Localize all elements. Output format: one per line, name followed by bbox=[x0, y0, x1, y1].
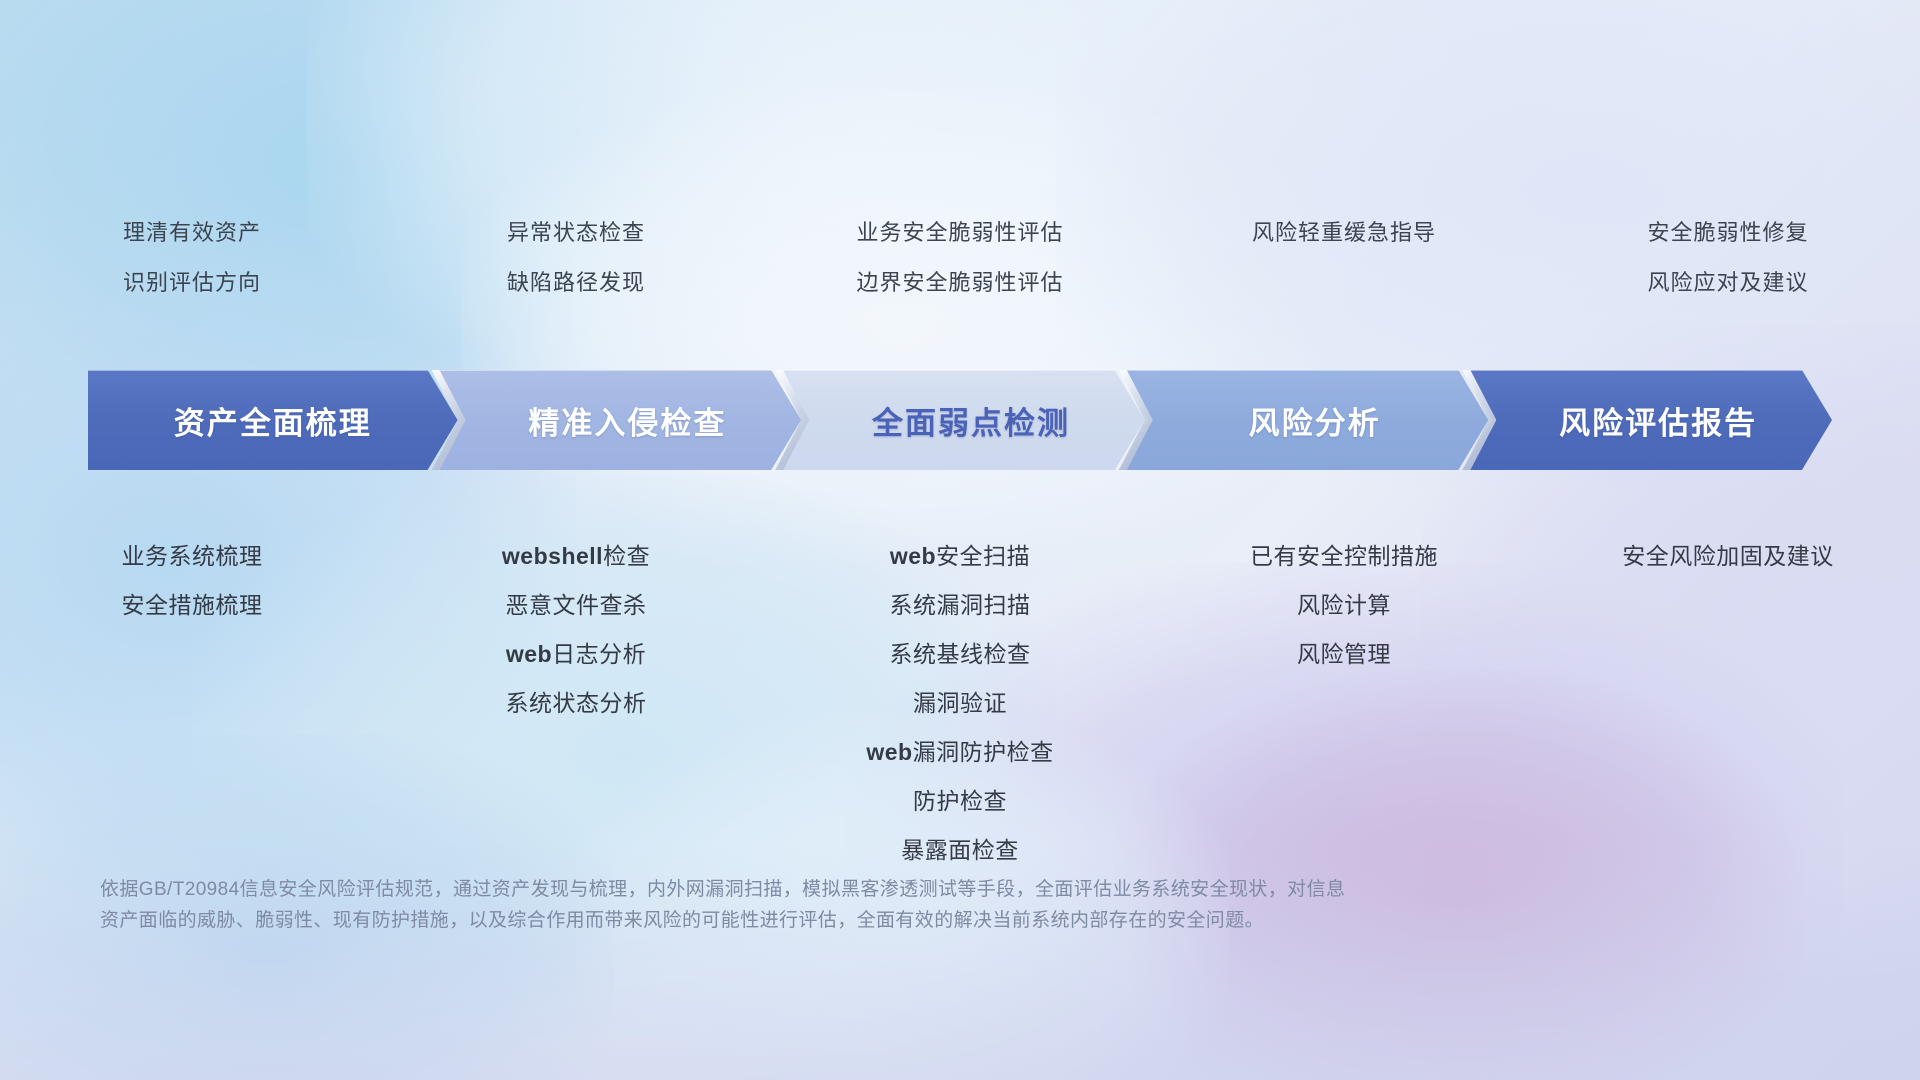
footer-line-1: 依据GB/T20984信息安全风险评估规范，通过资产发现与梳理，内外网漏洞扫描，… bbox=[100, 875, 1820, 906]
stage-arrow-4[interactable]: 风险分析 bbox=[1119, 370, 1489, 470]
list-item-prefix: web bbox=[890, 543, 936, 569]
top-caption: 边界安全脆弱性评估 bbox=[856, 272, 1063, 294]
top-caption: 异常状态检查 bbox=[507, 222, 645, 244]
top-caption: 业务安全脆弱性评估 bbox=[856, 222, 1063, 244]
stage-label: 资产全面梳理 bbox=[174, 398, 372, 443]
top-caption-col-5: 安全脆弱性修复风险应对及建议 bbox=[1536, 222, 1920, 322]
list-item-label: 日志分析 bbox=[552, 641, 646, 667]
stage-arrow-1[interactable]: 资产全面梳理 bbox=[88, 370, 458, 470]
detail-list-col-3: web安全扫描系统漏洞扫描系统基线检查漏洞验证web漏洞防护检查防护检查暴露面检… bbox=[768, 545, 1152, 888]
top-caption: 识别评估方向 bbox=[123, 272, 261, 294]
detail-list-col-4: 已有安全控制措施风险计算风险管理 bbox=[1152, 545, 1536, 692]
list-item: 防护检查 bbox=[913, 790, 1007, 813]
top-caption: 安全脆弱性修复 bbox=[1647, 222, 1808, 244]
list-item-prefix: web bbox=[866, 739, 912, 765]
list-item: 风险管理 bbox=[1297, 643, 1391, 666]
top-caption-col-1: 理清有效资产识别评估方向 bbox=[0, 222, 384, 322]
stage-label: 全面弱点检测 bbox=[850, 398, 1070, 443]
list-item: 业务系统梳理 bbox=[122, 545, 263, 568]
list-item-label: 检查 bbox=[603, 543, 650, 569]
list-item-label: 漏洞防护检查 bbox=[913, 739, 1054, 765]
top-caption-col-2: 异常状态检查缺陷路径发现 bbox=[384, 222, 768, 322]
top-caption: 风险应对及建议 bbox=[1647, 272, 1808, 294]
detail-list-col-1: 业务系统梳理安全措施梳理 bbox=[0, 545, 384, 643]
stage-arrow-3[interactable]: 全面弱点检测 bbox=[775, 370, 1145, 470]
list-item: web漏洞防护检查 bbox=[866, 741, 1053, 764]
top-caption-col-3: 业务安全脆弱性评估边界安全脆弱性评估 bbox=[768, 222, 1152, 322]
list-item-prefix: webshell bbox=[502, 543, 603, 569]
list-item: 系统漏洞扫描 bbox=[890, 594, 1031, 617]
stage-arrow-5[interactable]: 风险评估报告 bbox=[1462, 370, 1832, 470]
list-item: 风险计算 bbox=[1297, 594, 1391, 617]
stage-label: 风险分析 bbox=[1227, 398, 1381, 443]
top-caption: 缺陷路径发现 bbox=[507, 272, 645, 294]
list-item: 漏洞验证 bbox=[913, 692, 1007, 715]
list-item: 安全风险加固及建议 bbox=[1622, 545, 1834, 568]
list-item: web日志分析 bbox=[506, 643, 646, 666]
process-arrow-band: 资产全面梳理精准入侵检查全面弱点检测风险分析风险评估报告 bbox=[88, 370, 1832, 470]
top-caption: 风险轻重缓急指导 bbox=[1252, 222, 1436, 244]
stage-label: 风险评估报告 bbox=[1537, 398, 1757, 443]
list-item: 恶意文件查杀 bbox=[506, 594, 647, 617]
detail-list-col-5: 安全风险加固及建议 bbox=[1536, 545, 1920, 594]
stage-arrow-2[interactable]: 精准入侵检查 bbox=[432, 370, 802, 470]
top-captions-row: 理清有效资产识别评估方向异常状态检查缺陷路径发现业务安全脆弱性评估边界安全脆弱性… bbox=[0, 222, 1920, 322]
top-caption-col-4: 风险轻重缓急指导 bbox=[1152, 222, 1536, 322]
list-item-label: 安全扫描 bbox=[936, 543, 1030, 569]
list-item: web安全扫描 bbox=[890, 545, 1030, 568]
list-item: webshell检查 bbox=[502, 545, 650, 568]
footer-description: 依据GB/T20984信息安全风险评估规范，通过资产发现与梳理，内外网漏洞扫描，… bbox=[100, 875, 1820, 937]
list-item-prefix: web bbox=[506, 641, 552, 667]
top-caption: 理清有效资产 bbox=[123, 222, 261, 244]
list-item: 系统状态分析 bbox=[506, 692, 647, 715]
list-item: 安全措施梳理 bbox=[122, 594, 263, 617]
bottom-detail-lists: 业务系统梳理安全措施梳理webshell检查恶意文件查杀web日志分析系统状态分… bbox=[0, 545, 1920, 888]
footer-line-2: 资产面临的威胁、脆弱性、现有防护措施，以及综合作用而带来风险的可能性进行评估，全… bbox=[100, 906, 1820, 937]
list-item: 已有安全控制措施 bbox=[1250, 545, 1438, 568]
stage-label: 精准入侵检查 bbox=[506, 398, 726, 443]
list-item: 系统基线检查 bbox=[890, 643, 1031, 666]
detail-list-col-2: webshell检查恶意文件查杀web日志分析系统状态分析 bbox=[384, 545, 768, 741]
list-item: 暴露面检查 bbox=[901, 839, 1019, 862]
